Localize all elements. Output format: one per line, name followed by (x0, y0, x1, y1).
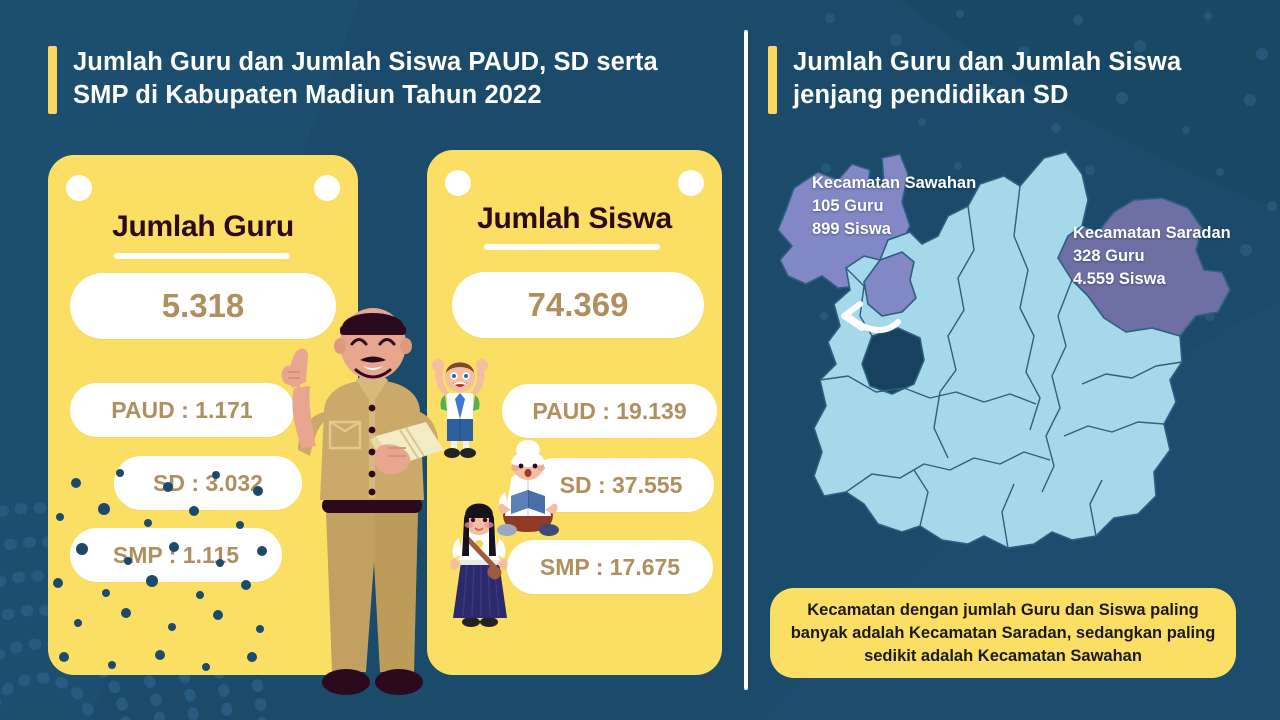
title-accent-bar (48, 46, 57, 114)
siswa-paud-value: PAUD : 19.139 (502, 384, 717, 438)
siswa-smp-value: SMP : 17.675 (507, 540, 713, 594)
right-title-text: Jumlah Guru dan Jumlah Siswa jenjang pen… (793, 46, 1238, 112)
left-title-text: Jumlah Guru dan Jumlah Siswa PAUD, SD se… (73, 46, 718, 112)
map-label-sawahan: Kecamatan Sawahan 105 Guru 899 Siswa (812, 172, 976, 241)
right-panel-title: Jumlah Guru dan Jumlah Siswa jenjang pen… (768, 46, 1238, 114)
panel-divider (744, 30, 748, 690)
card-jumlah-siswa: Jumlah Siswa 74.369 PAUD : 19.139 SD : 3… (427, 150, 722, 675)
card-guru-title: Jumlah Guru (48, 210, 358, 244)
map-label-sawahan-guru: 105 Guru (812, 195, 976, 218)
guru-total-value: 5.318 (70, 273, 336, 339)
card-guru-underline (114, 253, 290, 259)
siswa-total-value: 74.369 (452, 272, 704, 338)
guru-sd-value: SD : 3.032 (114, 456, 302, 510)
guru-smp-value: SMP : 1.115 (70, 528, 282, 582)
card-siswa-underline (484, 244, 660, 250)
card-hole-left-icon (445, 170, 471, 196)
map-label-sawahan-siswa: 899 Siswa (812, 218, 976, 241)
map-label-sawahan-name: Kecamatan Sawahan (812, 172, 976, 195)
card-hole-right-icon (314, 175, 340, 201)
card-siswa-title: Jumlah Siswa (427, 202, 722, 236)
map-label-saradan-siswa: 4.559 Siswa (1073, 268, 1231, 291)
card-hole-left-icon (66, 175, 92, 201)
infographic-canvas: Jumlah Guru dan Jumlah Siswa PAUD, SD se… (0, 0, 1280, 720)
guru-paud-value: PAUD : 1.171 (70, 383, 294, 437)
card-jumlah-guru: Jumlah Guru 5.318 PAUD : 1.171 SD : 3.03… (48, 155, 358, 675)
map-region-enclave-kota-madiun (862, 328, 924, 394)
card-hole-right-icon (678, 170, 704, 196)
left-panel-title: Jumlah Guru dan Jumlah Siswa PAUD, SD se… (48, 46, 718, 114)
map-label-saradan: Kecamatan Saradan 328 Guru 4.559 Siswa (1073, 222, 1231, 291)
map-label-saradan-guru: 328 Guru (1073, 245, 1231, 268)
map-label-saradan-name: Kecamatan Saradan (1073, 222, 1231, 245)
summary-note: Kecamatan dengan jumlah Guru dan Siswa p… (770, 588, 1236, 678)
siswa-sd-value: SD : 37.555 (528, 458, 714, 512)
title-accent-bar (768, 46, 777, 114)
